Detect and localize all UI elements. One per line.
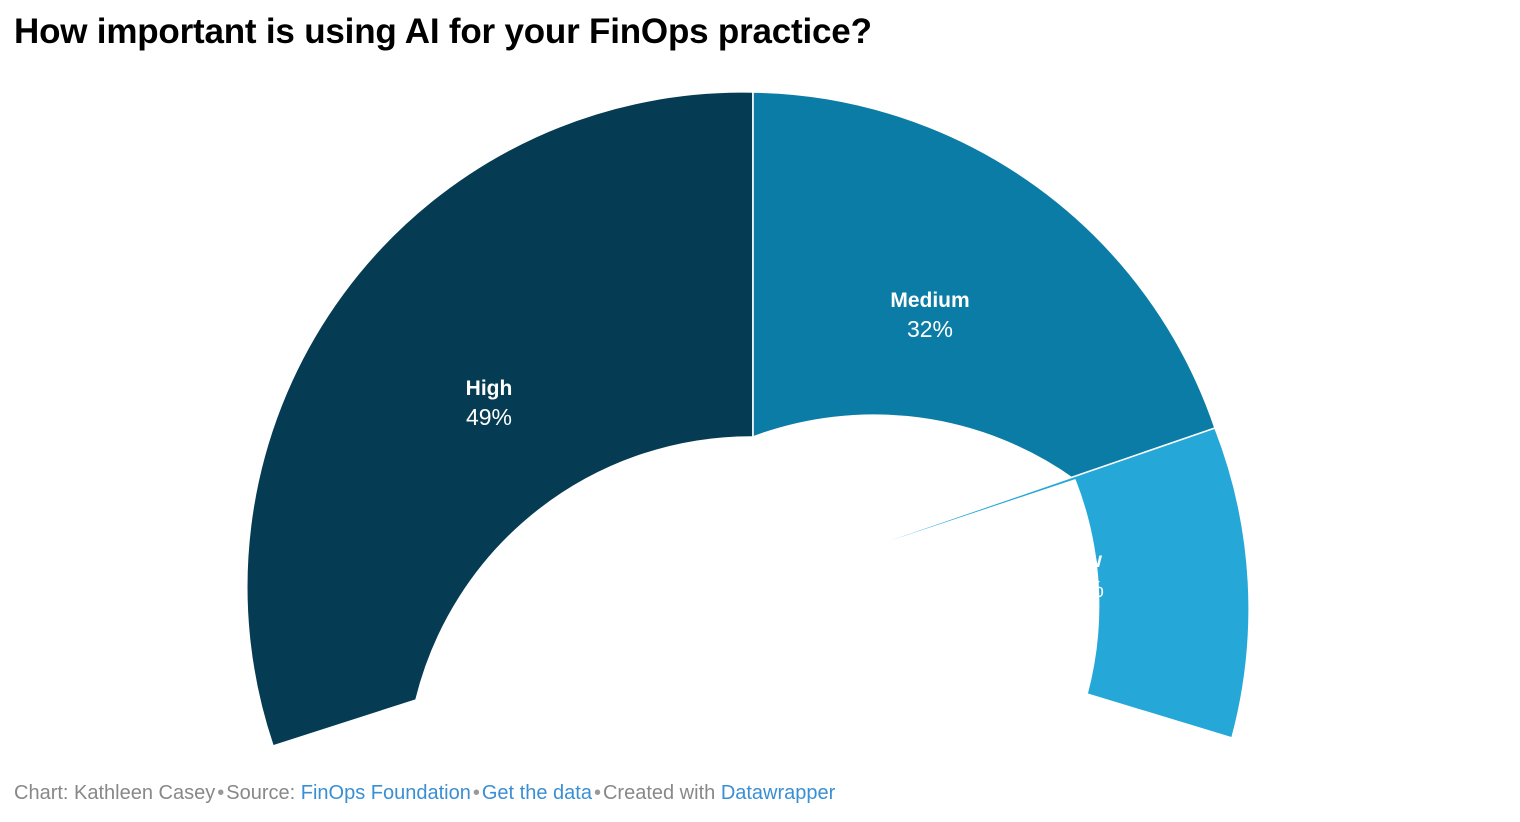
footer-source-link[interactable]: FinOps Foundation (301, 782, 471, 804)
pie-label-low-name: Low (1060, 549, 1103, 572)
pie-label-high-name: High (466, 377, 513, 400)
pie-label-medium-name: Medium (890, 289, 969, 312)
footer-credit: Chart: Kathleen Casey (14, 782, 215, 804)
pie-label-low-value: 19% (1058, 576, 1104, 602)
footer-separator-1: • (215, 782, 226, 804)
pie-slice-low[interactable] (753, 428, 1249, 738)
chart-container: How important is using AI for your FinOp… (0, 0, 1520, 822)
page-title: How important is using AI for your FinOp… (14, 12, 872, 52)
footer-datawrapper-link[interactable]: Datawrapper (721, 782, 836, 804)
pie-chart-plot: High 49% Medium 32% Low 19% (0, 60, 1520, 760)
pie-label-low: Low 19% (1058, 549, 1104, 602)
footer-separator-3: • (592, 782, 603, 804)
footer-get-data-link[interactable]: Get the data (482, 782, 592, 804)
footer-separator-2: • (471, 782, 482, 804)
pie-label-high: High 49% (466, 377, 513, 430)
footer-created-prefix: Created with (603, 782, 715, 804)
pie-label-medium-value: 32% (907, 316, 953, 342)
pie-slices-group (247, 92, 1249, 746)
pie-label-high-value: 49% (466, 404, 512, 430)
pie-chart-svg: High 49% Medium 32% Low 19% (0, 60, 1520, 760)
chart-footer: Chart: Kathleen Casey•Source: FinOps Fou… (14, 782, 835, 805)
footer-source-prefix: Source: (226, 782, 295, 804)
